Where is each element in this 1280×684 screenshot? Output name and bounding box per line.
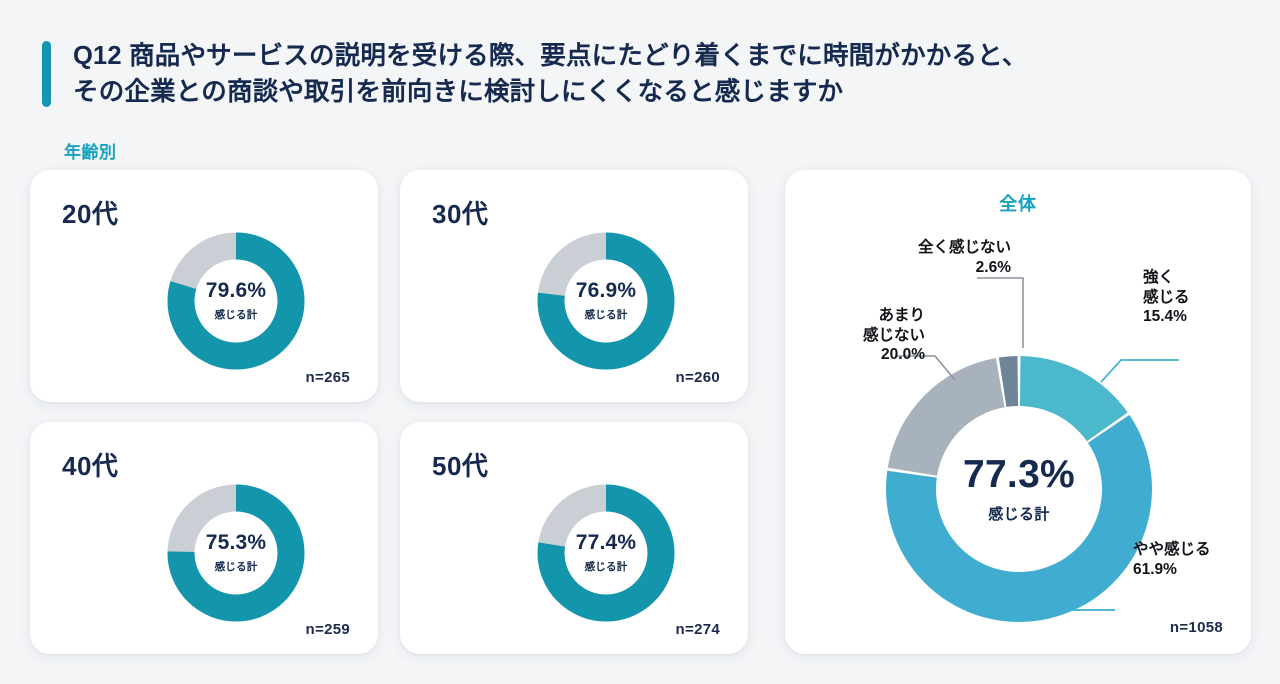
infographic-root: Q12 商品やサービスの説明を受ける際、要点にたどり着くまでに時間がかかると、 …: [0, 0, 1280, 684]
donut-chart-overall: [878, 348, 1160, 630]
sample-size: n=274: [676, 621, 720, 638]
donut-svg: [161, 478, 311, 628]
section-label-age: 年齢別: [64, 138, 117, 163]
page-header: Q12 商品やサービスの説明を受ける際、要点にたどり着くまでに時間がかかると、 …: [42, 38, 1028, 110]
overall-panel[interactable]: 全体 77.3% 感じる計 全く感じない 2.6% あまり 感じない: [785, 170, 1251, 654]
callout-somewhat-label: やや感じる: [1133, 541, 1211, 558]
callout-strong-label: 強く 感じる: [1143, 269, 1190, 306]
callout-little-label: あまり 感じない: [863, 307, 925, 344]
page-title: Q12 商品やサービスの説明を受ける際、要点にたどり着くまでに時間がかかると、 …: [73, 38, 1028, 110]
donut-svg: [531, 226, 681, 376]
sample-size: n=259: [306, 621, 350, 638]
accent-bar: [42, 41, 51, 107]
sample-size: n=265: [306, 369, 350, 386]
age-card-title: 50代: [432, 446, 488, 483]
age-card-title: 30代: [432, 194, 488, 231]
overall-title: 全体: [785, 190, 1251, 216]
callout-little: あまり 感じない 20.0%: [805, 306, 925, 365]
callout-somewhat-value: 61.9%: [1133, 561, 1177, 578]
donut-svg: [161, 226, 311, 376]
donut-chart-20s: [161, 226, 311, 376]
sample-size: n=260: [676, 369, 720, 386]
callout-somewhat: やや感じる 61.9%: [1133, 540, 1253, 579]
callout-none-label: 全く感じない: [918, 239, 1011, 256]
age-card-title: 20代: [62, 194, 118, 231]
donut-svg: [531, 478, 681, 628]
callout-little-value: 20.0%: [881, 346, 925, 363]
donut-chart-50s: [531, 478, 681, 628]
donut-svg-overall: [878, 348, 1160, 630]
age-card-40s[interactable]: 40代 75.3% 感じる計 n=259: [30, 422, 378, 654]
callout-none-value: 2.6%: [976, 259, 1011, 276]
age-card-30s[interactable]: 30代 76.9% 感じる計 n=260: [400, 170, 748, 402]
callout-none: 全く感じない 2.6%: [831, 238, 1011, 277]
callout-strong: 強く 感じる 15.4%: [1143, 268, 1247, 327]
leader-line-none: [977, 278, 1023, 348]
callout-strong-value: 15.4%: [1143, 308, 1187, 325]
sample-size-overall: n=1058: [1170, 619, 1223, 636]
age-card-title: 40代: [62, 446, 118, 483]
donut-segment: [888, 358, 1005, 476]
donut-chart-30s: [531, 226, 681, 376]
age-card-20s[interactable]: 20代 79.6% 感じる計 n=265: [30, 170, 378, 402]
donut-chart-40s: [161, 478, 311, 628]
age-card-50s[interactable]: 50代 77.4% 感じる計 n=274: [400, 422, 748, 654]
